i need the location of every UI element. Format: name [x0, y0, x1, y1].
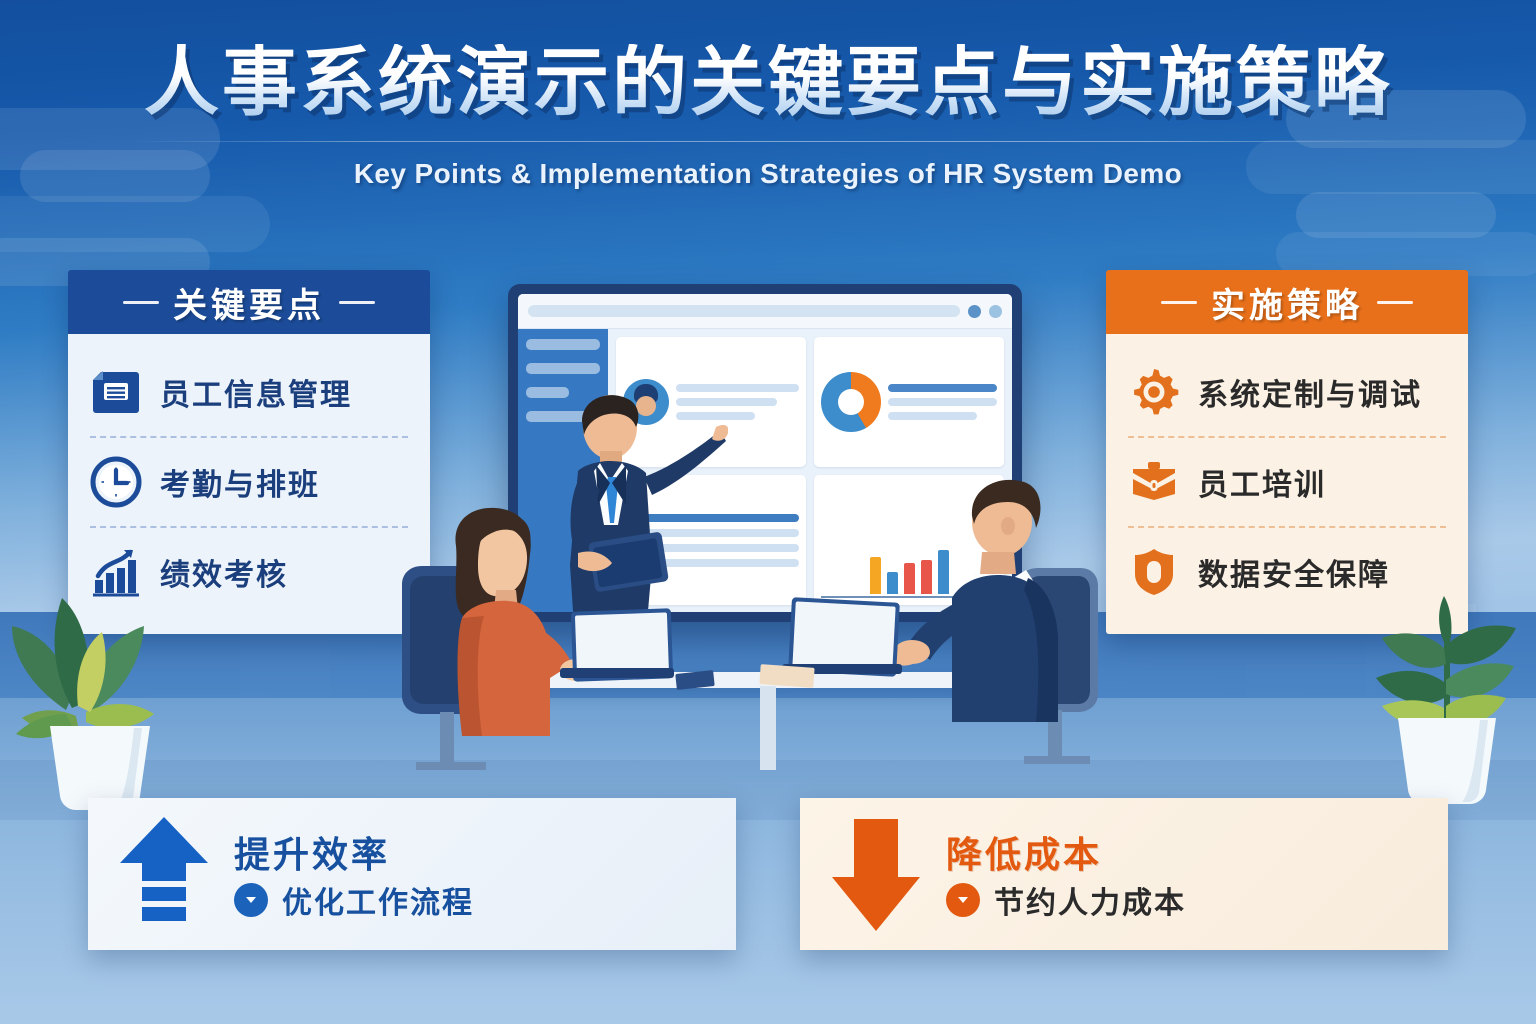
page-subtitle: Key Points & Implementation Strategies o… — [0, 158, 1536, 190]
page-title: 人事系统演示的关键要点与实施策略 — [0, 44, 1536, 121]
card-efficiency-text: 提升效率 优化工作流程 — [234, 826, 718, 922]
window-dot-icon — [989, 305, 1002, 318]
card-cost[interactable]: 降低成本 节约人力成本 — [800, 798, 1448, 950]
card-cost-sub-label: 节约人力成本 — [994, 878, 1186, 922]
legend-line — [888, 412, 977, 420]
card-efficiency[interactable]: 提升效率 优化工作流程 — [88, 798, 736, 950]
potted-plant-right — [1340, 540, 1530, 830]
card-cost-heading: 降低成本 — [946, 834, 1102, 875]
dash-right-icon — [339, 301, 375, 304]
arrow-down-icon — [830, 815, 922, 933]
donut-chart — [821, 372, 881, 432]
sidebar-item[interactable] — [526, 363, 600, 374]
card-efficiency-sub-label: 优化工作流程 — [282, 878, 474, 922]
document-icon — [90, 366, 142, 418]
sidebar-item[interactable] — [526, 339, 600, 350]
list-item[interactable]: 考勤与排班 — [90, 436, 408, 526]
infographic-poster: 人事系统演示的关键要点与实施策略 Key Points & Implementa… — [0, 0, 1536, 1024]
title-block: 人事系统演示的关键要点与实施策略 Key Points & Implementa… — [0, 44, 1536, 190]
panel-key-points-header: 关键要点 — [68, 270, 430, 334]
donut-chart-card — [814, 337, 1004, 467]
seated-man-person — [890, 470, 1100, 770]
seated-woman-person — [400, 500, 600, 780]
table-leg — [760, 686, 776, 770]
list-item-label: 员工培训 — [1198, 460, 1326, 504]
dash-right-icon — [1377, 301, 1413, 304]
bar — [870, 557, 881, 594]
legend-line — [888, 398, 997, 406]
panel-strategy-title: 实施策略 — [1211, 278, 1363, 327]
legend-line — [888, 384, 997, 392]
dash-left-icon — [1161, 301, 1197, 304]
potted-plant-left — [6, 540, 196, 830]
briefcase-icon — [1128, 456, 1180, 508]
list-item-label: 员工信息管理 — [160, 370, 352, 414]
card-efficiency-heading: 提升效率 — [234, 834, 390, 875]
window-dot-icon — [968, 305, 981, 318]
laptop-base — [560, 668, 674, 678]
list-item[interactable]: 员工信息管理 — [90, 348, 408, 436]
chevron-down-icon — [234, 883, 268, 917]
gear-icon — [1128, 366, 1180, 418]
list-item-label: 系统定制与调试 — [1198, 370, 1422, 414]
arrow-up-icon — [118, 815, 210, 933]
browser-chrome-bar — [518, 294, 1012, 329]
panel-key-points-title: 关键要点 — [173, 278, 325, 327]
shield-icon — [1128, 546, 1180, 598]
dash-left-icon — [123, 301, 159, 304]
list-item[interactable]: 系统定制与调试 — [1128, 348, 1446, 436]
list-item-label: 考勤与排班 — [160, 460, 320, 504]
list-item[interactable]: 员工培训 — [1128, 436, 1446, 526]
paper-sheet — [759, 664, 814, 688]
panel-strategy-header: 实施策略 — [1106, 270, 1468, 334]
donut-legend — [888, 344, 997, 460]
card-cost-sub: 节约人力成本 — [946, 878, 1430, 922]
title-divider — [128, 141, 1408, 142]
address-bar[interactable] — [528, 305, 960, 317]
clock-icon — [90, 456, 142, 508]
card-cost-text: 降低成本 节约人力成本 — [946, 826, 1430, 922]
chevron-down-icon — [946, 883, 980, 917]
card-efficiency-sub: 优化工作流程 — [234, 878, 718, 922]
laptop-screen — [792, 601, 895, 672]
